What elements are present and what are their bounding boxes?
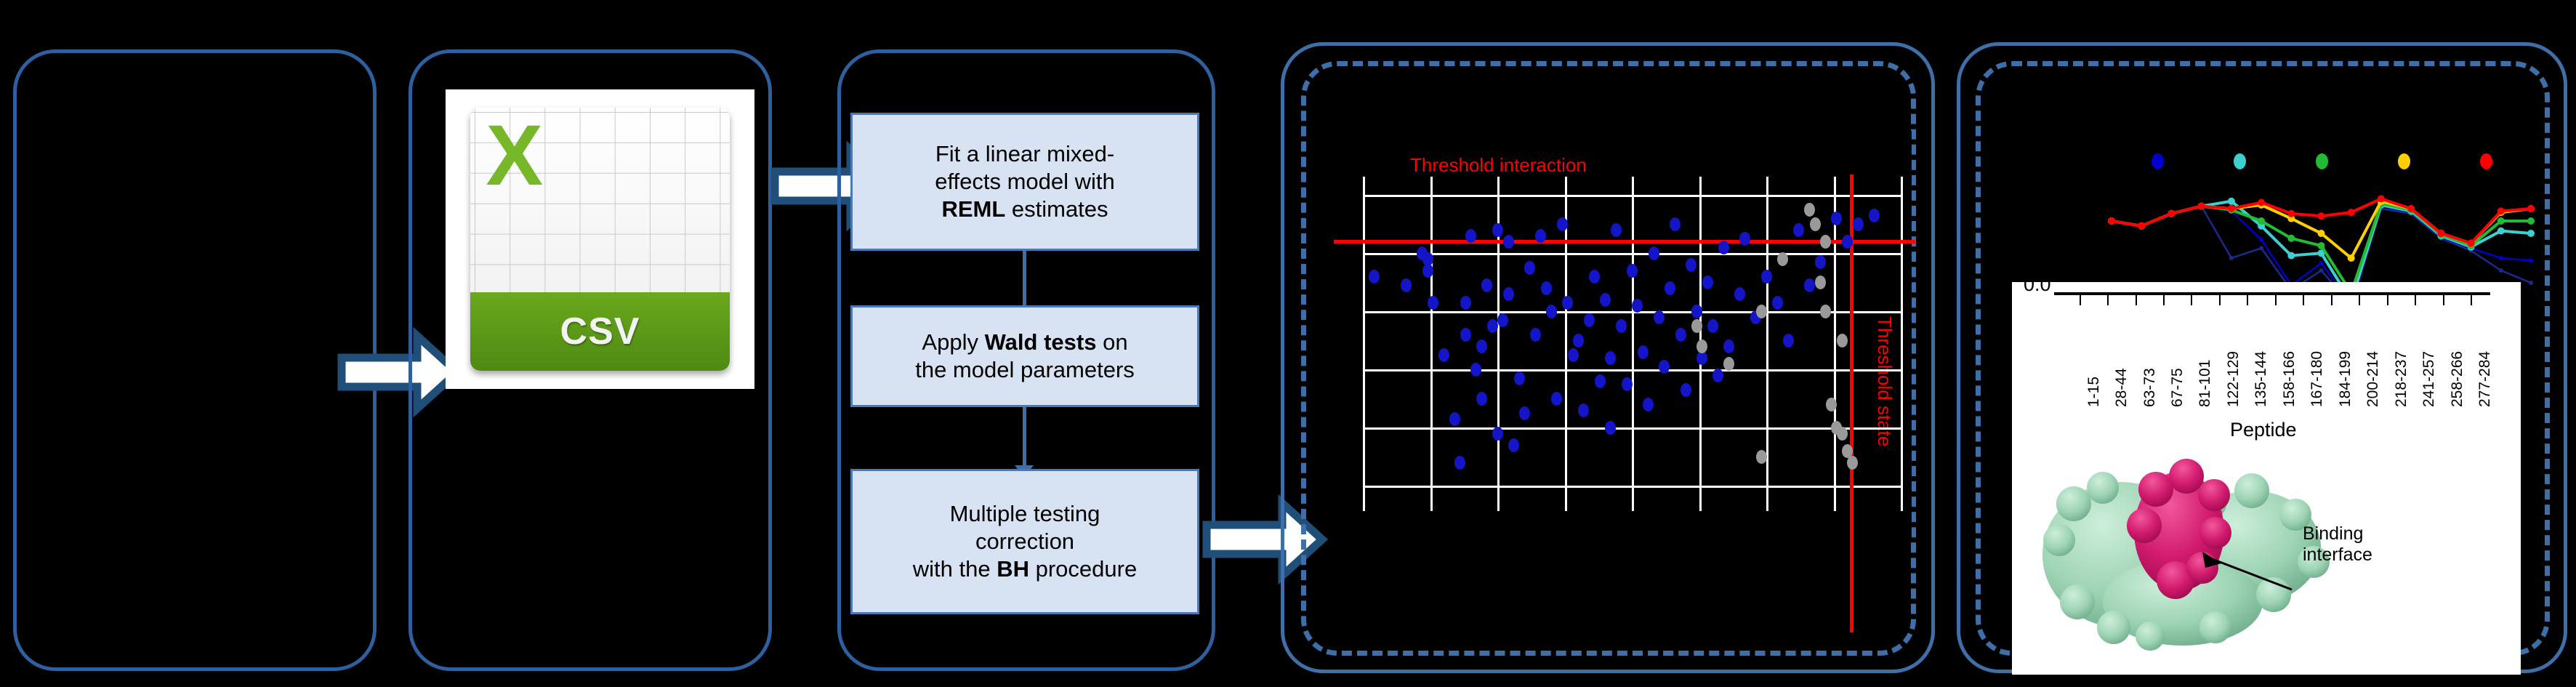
scatter-point <box>1691 305 1702 318</box>
x-tick-label: 28-44 <box>2113 368 2130 407</box>
scatter-point <box>1826 398 1837 411</box>
scatter-point <box>1712 369 1723 382</box>
scatter-point <box>1503 235 1514 249</box>
scatter-point <box>1438 348 1449 362</box>
results-white-card: 0.0 1-1528-4463-7367-7581-101122-129135-… <box>2012 282 2521 675</box>
scatter-point <box>1756 450 1767 464</box>
scatter-point <box>1487 319 1498 333</box>
scatter-point <box>1492 223 1503 237</box>
x-axis-tick <box>2359 295 2360 305</box>
scatter-point <box>1670 217 1681 231</box>
csv-card: X CSV <box>470 108 730 371</box>
scatter-point <box>1476 392 1487 406</box>
grid-line-vertical <box>1363 177 1365 511</box>
scatter-point <box>1422 264 1433 278</box>
scatter-point <box>1589 270 1600 284</box>
scatter-point <box>1465 229 1476 243</box>
x-axis-tick <box>2080 295 2081 305</box>
scatter-point <box>1546 305 1557 318</box>
x-tick-label: 122-129 <box>2225 351 2242 407</box>
scatter-point <box>1519 406 1530 420</box>
line-marker <box>2318 230 2325 237</box>
line-marker <box>2499 256 2503 260</box>
scatter-point <box>1659 360 1670 374</box>
diagram-canvas: X CSV Fit a linear mixed-effects model w… <box>0 0 2576 687</box>
legend-dot-series-yellow <box>2398 153 2410 169</box>
x-axis-tick <box>2303 295 2304 305</box>
line-marker <box>2348 209 2355 216</box>
scatter-point <box>1772 296 1783 310</box>
scatter-point <box>1783 334 1794 347</box>
x-tick-label: 218-237 <box>2393 351 2410 407</box>
scatter-point <box>1837 427 1848 441</box>
binding-interface-annotation: Binding interface <box>2303 523 2372 566</box>
annotation-line-2: interface <box>2303 545 2372 566</box>
scatter-point <box>1804 203 1815 217</box>
step-reml-text: Fit a linear mixed-effects model withREM… <box>935 140 1115 222</box>
scatter-point <box>1804 278 1815 292</box>
scatter-point <box>1842 235 1853 249</box>
scatter-point <box>1691 319 1702 333</box>
scatter-point <box>1568 348 1579 362</box>
x-axis-tick <box>2443 295 2444 305</box>
x-axis-ticks <box>2054 295 2490 308</box>
annotation-line-1: Binding <box>2303 523 2372 545</box>
scatter-point <box>1702 276 1713 289</box>
scatter-point <box>1557 217 1568 231</box>
line-marker <box>2378 195 2385 202</box>
volcano-scatter-plot: Threshold interaction Threshold state <box>1330 131 1912 538</box>
connector-wald-bh <box>1023 407 1026 469</box>
scatter-point <box>1573 334 1584 347</box>
line-marker <box>2348 254 2355 262</box>
x-tick-label: 277-284 <box>2476 351 2494 407</box>
grid-line-vertical <box>1901 177 1903 511</box>
scatter-point <box>1654 310 1665 324</box>
grid-line-vertical <box>1430 177 1433 511</box>
line-marker <box>2228 198 2235 205</box>
x-axis-tick <box>2163 295 2165 305</box>
line-marker <box>2407 205 2415 212</box>
x-axis-tick <box>2191 295 2192 305</box>
grid-line-vertical <box>1632 177 1634 511</box>
line-marker <box>2527 230 2535 237</box>
x-axis-tick <box>2415 295 2416 305</box>
scatter-point <box>1831 212 1842 225</box>
line-marker <box>2198 203 2205 210</box>
scatter-point <box>1638 345 1649 359</box>
scatter-point <box>1492 427 1503 441</box>
scatter-point <box>1681 383 1691 397</box>
scatter-point <box>1723 340 1734 353</box>
scatter-point <box>1578 403 1589 417</box>
scatter-point <box>1584 313 1595 327</box>
line-marker <box>2287 252 2295 260</box>
x-axis-title: Peptide <box>2230 419 2297 441</box>
scatter-point <box>1514 371 1525 385</box>
scatter-title: Threshold interaction <box>1410 154 1587 177</box>
csv-format-band: CSV <box>470 292 730 371</box>
step-bh-box: Multiple testingcorrectionwith the BH pr… <box>850 469 1199 614</box>
line-marker <box>2108 217 2115 225</box>
scatter-point <box>1734 287 1745 301</box>
scatter-point <box>1611 223 1622 237</box>
scatter-point <box>1600 293 1611 307</box>
scatter-point <box>1853 217 1864 231</box>
legend-dot-series-blue <box>2152 153 2164 169</box>
line-marker <box>2287 235 2295 242</box>
scatter-point <box>1810 217 1821 231</box>
input-panel <box>13 49 377 671</box>
scatter-point <box>1707 319 1718 333</box>
scatter-point <box>1369 270 1380 284</box>
scatter-point <box>1761 270 1772 284</box>
x-axis-tick <box>2331 295 2333 305</box>
line-marker <box>2318 242 2325 249</box>
scatter-point <box>1622 377 1633 391</box>
x-axis-tick <box>2471 295 2472 305</box>
scatter-points-layer <box>1363 195 1901 486</box>
grid-line-vertical <box>1766 177 1768 511</box>
x-tick-label: 184-199 <box>2337 351 2354 407</box>
excel-x-icon: X <box>486 113 579 229</box>
scatter-point <box>1460 296 1471 310</box>
grid-line-vertical <box>1834 177 1836 511</box>
line-marker <box>2529 258 2533 262</box>
x-tick-label: 167-180 <box>2309 351 2326 407</box>
csv-file-icon: X CSV <box>446 89 754 389</box>
x-axis-tick <box>2136 295 2137 305</box>
step-wald-box: Apply Wald tests onthe model parameters <box>850 305 1199 407</box>
scatter-point <box>1524 261 1535 275</box>
line-marker <box>2287 210 2295 217</box>
scatter-point <box>1401 278 1412 292</box>
line-marker <box>2258 217 2265 225</box>
x-tick-label: 1-15 <box>2085 377 2103 407</box>
line-marker <box>2497 217 2505 225</box>
line-marker <box>2497 207 2505 214</box>
scatter-point <box>1718 241 1729 254</box>
x-tick-label: 200-214 <box>2364 351 2382 407</box>
x-axis-tick <box>2107 295 2109 305</box>
scatter-point <box>1595 374 1606 388</box>
scatter-point <box>1503 287 1514 301</box>
scatter-point <box>1739 232 1750 246</box>
x-tick-label: 258-266 <box>2449 351 2466 407</box>
scatter-point <box>1449 412 1460 426</box>
line-marker <box>2138 222 2145 230</box>
line-marker <box>2168 210 2175 217</box>
step-wald-text: Apply Wald tests onthe model parameters <box>915 329 1135 384</box>
scatter-point <box>1460 328 1471 342</box>
y-axis-zero-label: 0.0 <box>2024 273 2051 296</box>
line-marker <box>2527 217 2535 225</box>
scatter-point <box>1508 438 1519 452</box>
scatter-point <box>1428 296 1438 310</box>
line-marker <box>2258 199 2265 206</box>
scatter-point <box>1530 328 1541 342</box>
line-marker <box>2318 212 2325 220</box>
x-axis-tick <box>2275 295 2277 305</box>
scatter-point <box>1696 340 1707 353</box>
x-tick-label: 63-73 <box>2141 368 2159 407</box>
line-marker <box>2499 268 2503 273</box>
scatter-point <box>1605 351 1616 365</box>
line-marker <box>2228 205 2235 212</box>
line-marker <box>2468 240 2475 247</box>
scatter-point <box>1627 264 1638 278</box>
scatter-point <box>1837 334 1848 347</box>
scatter-point <box>1847 456 1858 470</box>
line-marker <box>2259 246 2263 250</box>
scatter-point <box>1756 305 1767 318</box>
scatter-point <box>1686 258 1696 272</box>
scatter-point <box>1649 246 1659 260</box>
step-reml-box: Fit a linear mixed-effects model withREM… <box>850 113 1199 251</box>
line-chart-legend <box>2006 149 2544 174</box>
line-marker <box>2259 238 2263 242</box>
x-tick-label: 67-75 <box>2169 368 2186 407</box>
scatter-point <box>1643 398 1654 411</box>
line-marker <box>2497 228 2505 235</box>
x-tick-label: 135-144 <box>2253 351 2270 407</box>
scatter-point <box>1470 363 1481 377</box>
scatter-point <box>1605 421 1616 435</box>
scatter-point <box>1793 223 1804 237</box>
scatter-point <box>1665 281 1675 295</box>
x-axis-tick <box>2387 295 2388 305</box>
line-marker <box>2529 281 2533 285</box>
scatter-point <box>1815 255 1826 269</box>
line-marker <box>2319 261 2324 265</box>
scatter-point <box>1820 305 1831 318</box>
scatter-point <box>1481 278 1492 292</box>
legend-dot-series-cyan <box>2234 153 2246 169</box>
scatter-point <box>1562 296 1573 310</box>
scatter-point <box>1869 209 1880 222</box>
x-axis-tick <box>2219 295 2221 305</box>
line-marker <box>2319 268 2324 273</box>
x-axis-tick-labels: 1-1528-4463-7367-7581-101122-129135-1441… <box>2054 311 2490 420</box>
x-tick-label: 241-257 <box>2420 351 2438 407</box>
line-marker <box>2527 205 2535 212</box>
scatter-point <box>1454 456 1465 470</box>
step-bh-text: Multiple testingcorrectionwith the BH pr… <box>913 500 1137 582</box>
legend-dot-series-red <box>2480 153 2492 169</box>
scatter-point <box>1616 319 1627 333</box>
scatter-point <box>1777 252 1788 266</box>
scatter-point <box>1551 392 1562 406</box>
scatter-point <box>1820 235 1831 249</box>
x-tick-label: 158-166 <box>2281 351 2298 407</box>
line-marker <box>2437 230 2444 237</box>
csv-format-label: CSV <box>560 310 640 353</box>
scatter-point <box>1815 276 1826 289</box>
scatter-point <box>1476 340 1487 353</box>
scatter-point <box>1497 313 1508 327</box>
legend-dot-series-green <box>2316 153 2328 169</box>
line-marker <box>2229 256 2234 260</box>
scatter-point <box>1675 328 1686 342</box>
scatter-point <box>1541 281 1552 295</box>
x-tick-label: 81-101 <box>2197 360 2214 407</box>
x-axis-tick <box>2247 295 2248 305</box>
